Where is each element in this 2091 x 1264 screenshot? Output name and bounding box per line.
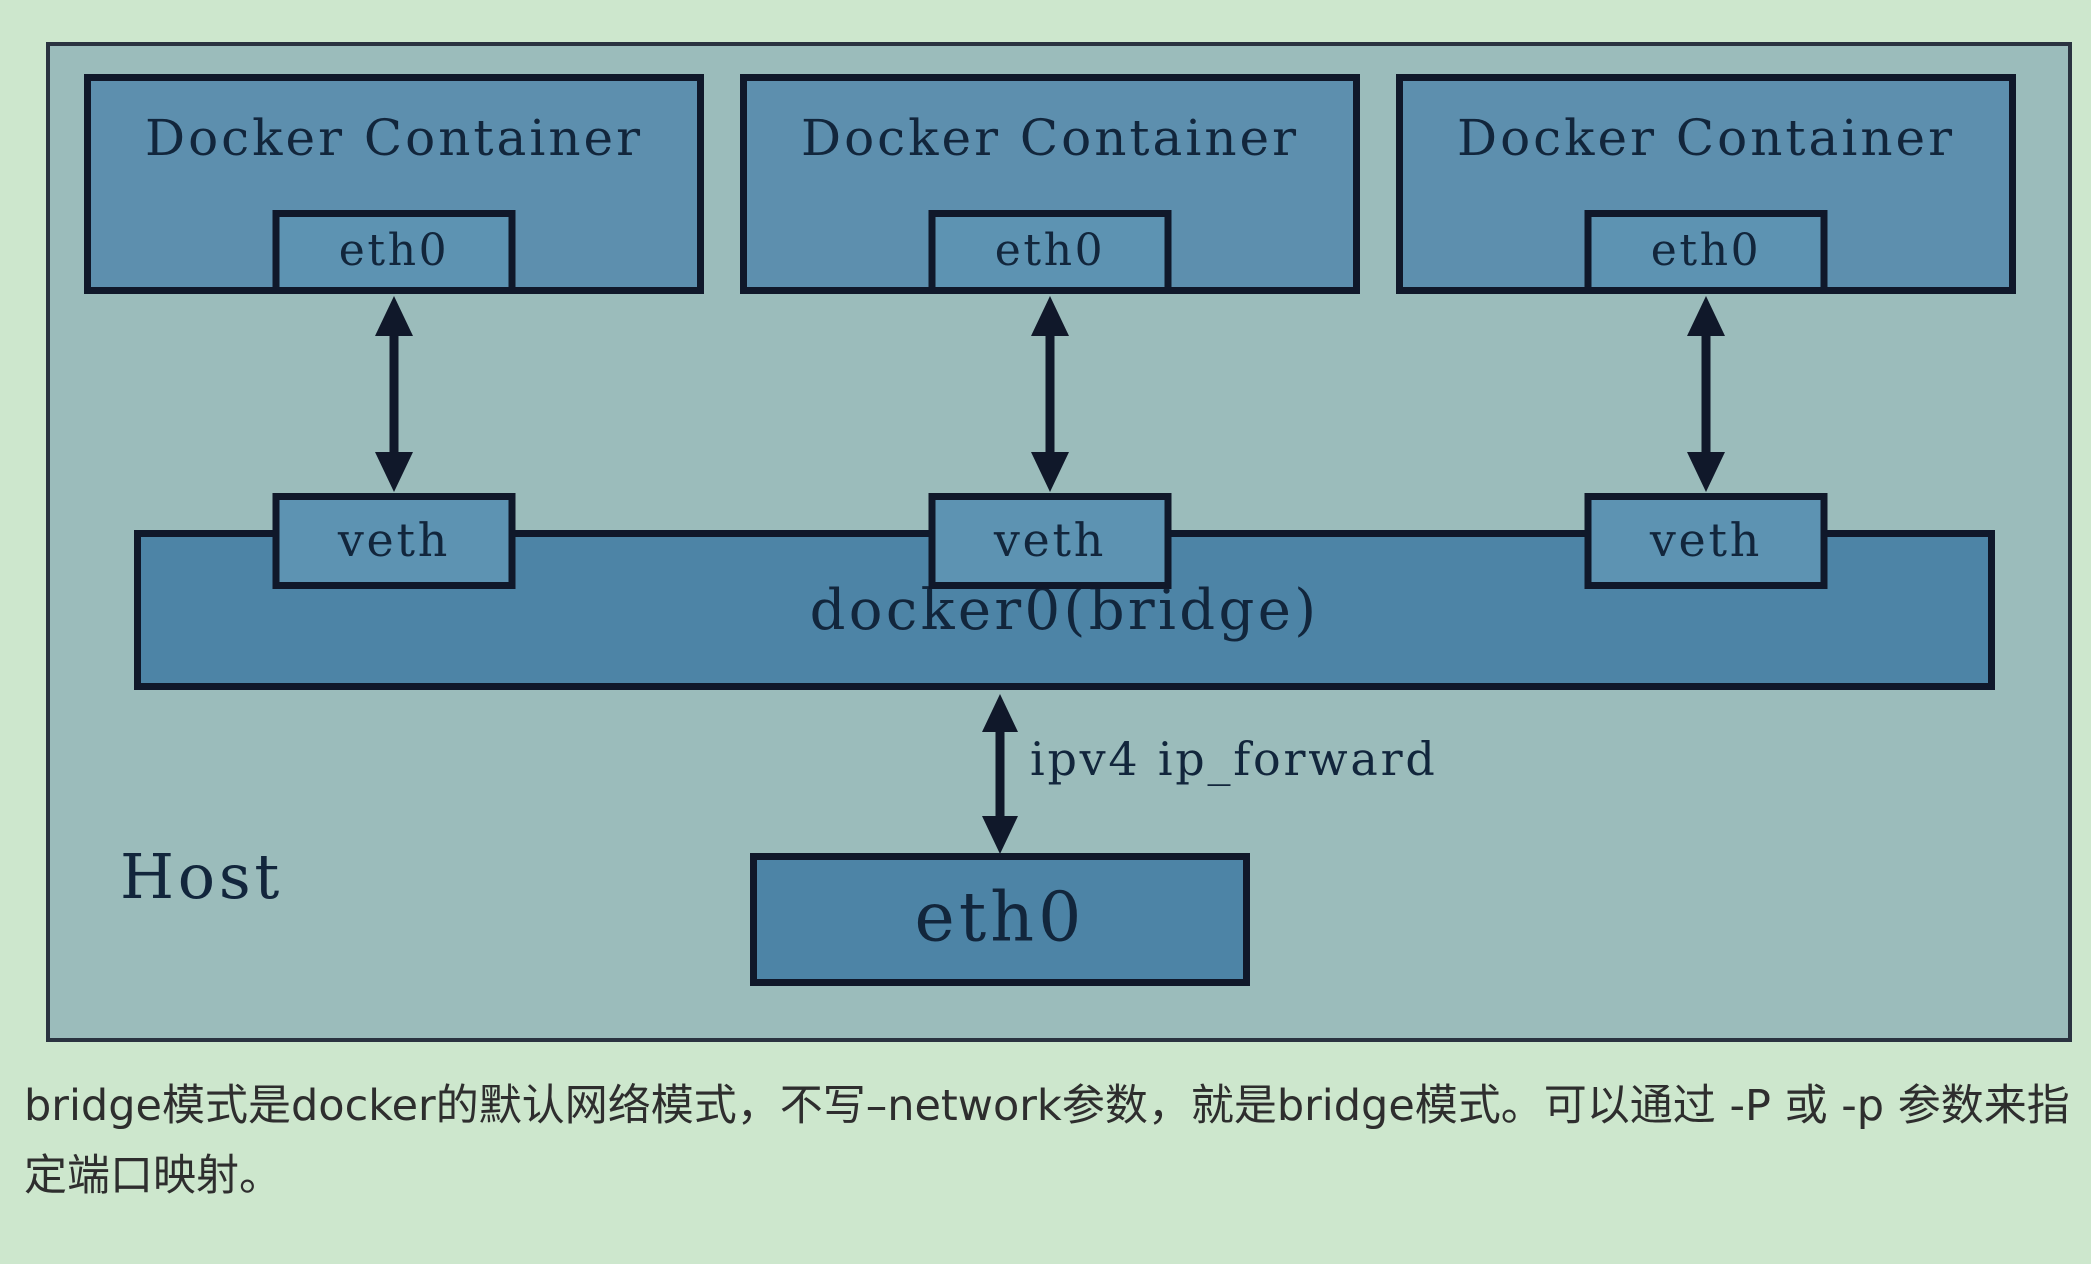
arrow-container-3-to-veth-3 <box>1683 296 1729 492</box>
docker-container-2: Docker Container eth0 <box>740 74 1360 294</box>
container-3-eth0-label: eth0 <box>1592 229 1821 273</box>
veth-label-2: veth <box>936 517 1165 563</box>
docker-container-2-title: Docker Container <box>747 113 1353 163</box>
veth-label-1: veth <box>280 517 509 563</box>
veth-label-3: veth <box>1592 517 1821 563</box>
docker0-bridge-label: docker0(bridge) <box>141 583 1988 639</box>
caption-text: bridge模式是docker的默认网络模式，不写–network参数，就是br… <box>24 1072 2074 1211</box>
arrow-container-1-to-veth-1 <box>371 296 417 492</box>
docker-container-1-title: Docker Container <box>91 113 697 163</box>
container-1-eth0-box: eth0 <box>273 210 516 294</box>
container-2-eth0-box: eth0 <box>929 210 1172 294</box>
docker-network-diagram: Docker Container eth0 Docker Container e… <box>46 42 2072 1042</box>
veth-box-3: veth <box>1585 493 1828 589</box>
host-label: Host <box>120 846 283 908</box>
docker-container-3: Docker Container eth0 <box>1396 74 2016 294</box>
container-2-eth0-label: eth0 <box>936 229 1165 273</box>
docker-container-1: Docker Container eth0 <box>84 74 704 294</box>
container-1-eth0-label: eth0 <box>280 229 509 273</box>
arrow-bridge-to-host-eth0 <box>977 694 1023 854</box>
host-eth0-label: eth0 <box>757 884 1243 952</box>
host-eth0-box: eth0 <box>750 853 1250 986</box>
arrow-container-2-to-veth-2 <box>1027 296 1073 492</box>
docker-container-3-title: Docker Container <box>1403 113 2009 163</box>
veth-box-1: veth <box>273 493 516 589</box>
ipv4-ip-forward-label: ipv4 ip_forward <box>1030 736 1438 782</box>
veth-box-2: veth <box>929 493 1172 589</box>
container-3-eth0-box: eth0 <box>1585 210 1828 294</box>
